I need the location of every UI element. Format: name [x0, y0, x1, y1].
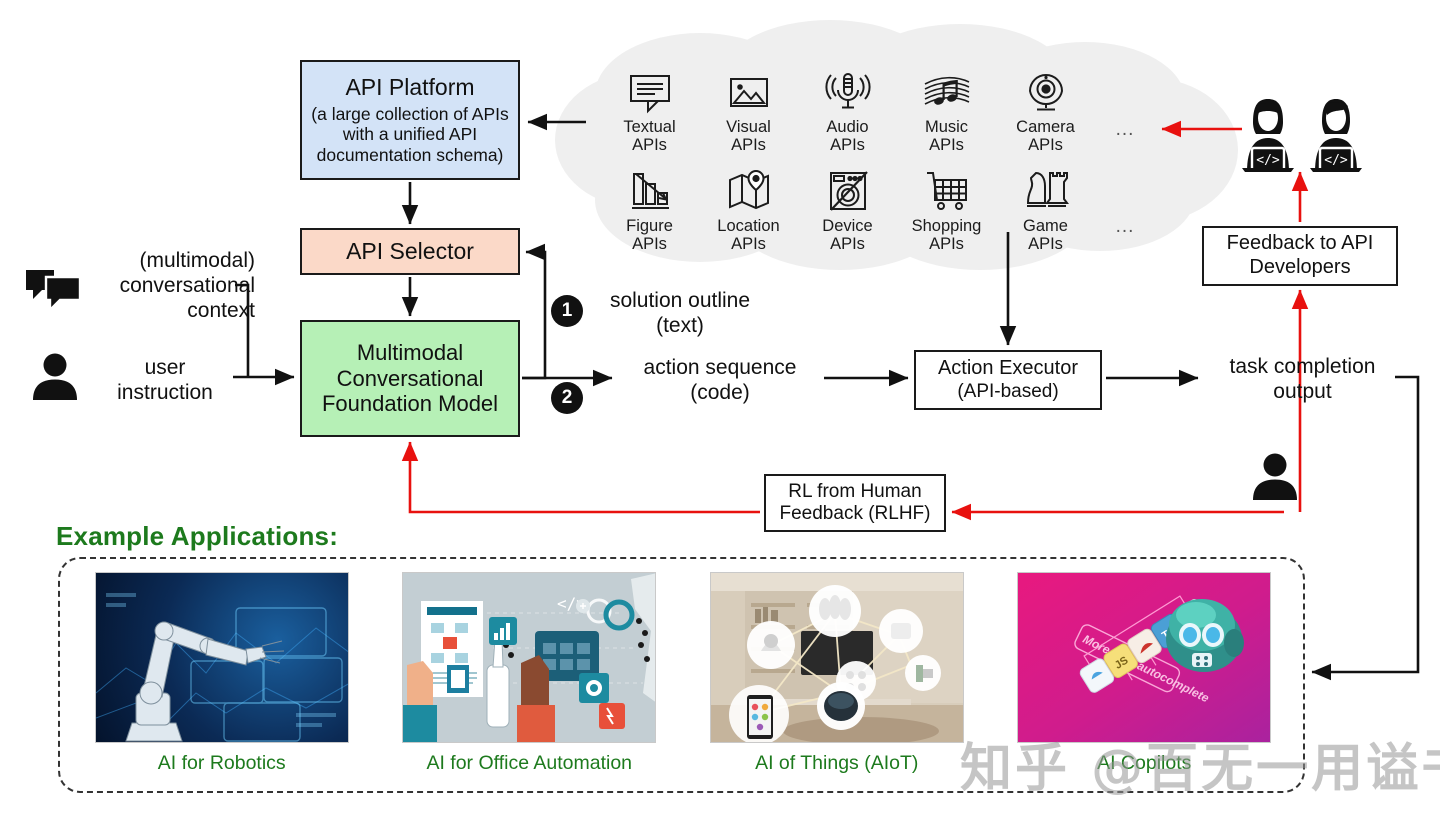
example-app-robotics[interactable]: AI for Robotics: [68, 572, 376, 782]
svg-text:</>: </>: [1324, 153, 1348, 168]
rlhf-line-1: RL from Human: [788, 481, 921, 503]
chat-bubbles-icon: [24, 268, 84, 315]
api-item-visual[interactable]: Visual APIs: [699, 68, 798, 155]
solution-outline-label: solution outline (text): [590, 288, 770, 338]
user-person-icon: [30, 352, 80, 405]
bar-chart-icon: [600, 167, 699, 213]
api-label-name: Audio: [798, 118, 897, 136]
api-ellipsis-row-1: ...: [1095, 68, 1155, 155]
api-label-unit: APIs: [600, 136, 699, 154]
user-instruction-line-2: instruction: [75, 380, 255, 405]
api-selector-box: API Selector: [300, 228, 520, 275]
conversational-context-line-1: (multimodal): [55, 248, 255, 273]
api-label-name: Textual: [600, 118, 699, 136]
music-notes-icon: [897, 68, 996, 114]
task-completion-line-2: output: [1205, 379, 1400, 404]
example-app-caption: AI for Robotics: [158, 752, 286, 775]
robot-arm-photo: [95, 572, 349, 743]
task-completion-line-1: task completion: [1205, 354, 1400, 379]
api-label-name: Game: [996, 217, 1095, 235]
api-platform-subtitle-3: documentation schema): [317, 145, 504, 166]
api-label-unit: APIs: [699, 235, 798, 253]
api-label-unit: APIs: [798, 235, 897, 253]
api-label-name: Figure: [600, 217, 699, 235]
feedback-to-developers-box: Feedback to API Developers: [1202, 226, 1398, 286]
api-label-name: Shopping: [897, 217, 996, 235]
user-instruction-line-1: user: [75, 355, 255, 380]
api-label-name: Device: [798, 217, 897, 235]
smart-home-photo: [710, 572, 964, 743]
action-sequence-label: action sequence (code): [620, 355, 820, 405]
api-item-camera[interactable]: Camera APIs: [996, 68, 1095, 155]
api-label-name: Location: [699, 217, 798, 235]
copilot-banner: More than autocomplete JS TS: [1017, 572, 1271, 743]
developer-male-icon: </>: [1305, 96, 1367, 177]
foundation-model-line-1: Multimodal: [357, 340, 463, 366]
api-label-name: Visual: [699, 118, 798, 136]
action-executor-title: Action Executor: [938, 357, 1078, 381]
feedback-to-developers-line-2: Developers: [1249, 256, 1350, 280]
api-item-location[interactable]: Location APIs: [699, 167, 798, 254]
office-automation-illustration: </>: [402, 572, 656, 743]
image-icon: [699, 68, 798, 114]
solution-outline-line-1: solution outline: [590, 288, 770, 313]
shopping-cart-icon: [897, 167, 996, 213]
rlhf-box: RL from Human Feedback (RLHF): [764, 474, 946, 532]
api-label-unit: APIs: [897, 136, 996, 154]
api-label-unit: APIs: [600, 235, 699, 253]
foundation-model-line-2: Conversational: [337, 366, 484, 392]
api-label-unit: APIs: [699, 136, 798, 154]
api-item-device[interactable]: Device APIs: [798, 167, 897, 254]
webcam-icon: [996, 68, 1095, 114]
api-categories-grid: Textual APIs Visual APIs: [600, 68, 1180, 254]
api-ellipsis-row-2: ...: [1095, 167, 1155, 254]
rlhf-line-2: Feedback (RLHF): [780, 503, 931, 525]
foundation-model-box: Multimodal Conversational Foundation Mod…: [300, 320, 520, 437]
api-platform-title: API Platform: [345, 74, 474, 101]
api-label-unit: APIs: [996, 235, 1095, 253]
diagram-canvas: API Platform (a large collection of APIs…: [0, 0, 1440, 813]
developer-female-icon: </>: [1237, 96, 1299, 177]
api-selector-title: API Selector: [346, 238, 474, 265]
api-label-unit: APIs: [798, 136, 897, 154]
washer-icon: [798, 167, 897, 213]
api-row-1: Textual APIs Visual APIs: [600, 68, 1180, 155]
step-badge-2: 2: [551, 382, 583, 414]
api-label-unit: APIs: [897, 235, 996, 253]
api-item-audio[interactable]: Audio APIs: [798, 68, 897, 155]
api-platform-box: API Platform (a large collection of APIs…: [300, 60, 520, 180]
api-label-unit: APIs: [996, 136, 1095, 154]
action-executor-box: Action Executor (API-based): [914, 350, 1102, 410]
example-applications-title: Example Applications:: [56, 521, 338, 552]
example-app-caption: AI of Things (AIoT): [755, 752, 918, 775]
example-app-office-automation[interactable]: </> AI for Office Automation: [376, 572, 684, 782]
action-executor-subtitle: (API-based): [957, 381, 1058, 403]
svg-text:</>: </>: [1256, 153, 1280, 168]
chat-text-icon: [600, 68, 699, 114]
conversational-context-line-3: context: [55, 298, 255, 323]
zhihu-watermark: 知乎 @百无一用谥书生: [960, 726, 1440, 801]
api-platform-subtitle-2: with a unified API: [343, 124, 477, 145]
microphone-icon: [798, 68, 897, 114]
api-item-figure[interactable]: Figure APIs: [600, 167, 699, 254]
task-completion-output-label: task completion output: [1205, 354, 1400, 404]
conversational-context-line-2: conversational: [55, 273, 255, 298]
api-row-2: Figure APIs Location APIs: [600, 167, 1180, 254]
action-sequence-line-2: (code): [620, 380, 820, 405]
map-pin-icon: [699, 167, 798, 213]
api-item-shopping[interactable]: Shopping APIs: [897, 167, 996, 254]
api-item-game[interactable]: Game APIs: [996, 167, 1095, 254]
human-evaluator-icon: [1250, 452, 1300, 505]
step-badge-1: 1: [551, 295, 583, 327]
chess-pieces-icon: [996, 167, 1095, 213]
api-label-name: Music: [897, 118, 996, 136]
api-platform-subtitle-1: (a large collection of APIs: [311, 104, 508, 125]
example-app-aiot[interactable]: AI of Things (AIoT): [683, 572, 991, 782]
api-label-name: Camera: [996, 118, 1095, 136]
api-item-textual[interactable]: Textual APIs: [600, 68, 699, 155]
api-item-music[interactable]: Music APIs: [897, 68, 996, 155]
conversational-context-label: (multimodal) conversational context: [55, 248, 255, 324]
foundation-model-line-3: Foundation Model: [322, 391, 498, 417]
feedback-to-developers-line-1: Feedback to API: [1227, 232, 1374, 256]
example-app-caption: AI for Office Automation: [426, 752, 632, 775]
user-instruction-label: user instruction: [75, 355, 255, 405]
solution-outline-line-2: (text): [590, 313, 770, 338]
action-sequence-line-1: action sequence: [620, 355, 820, 380]
